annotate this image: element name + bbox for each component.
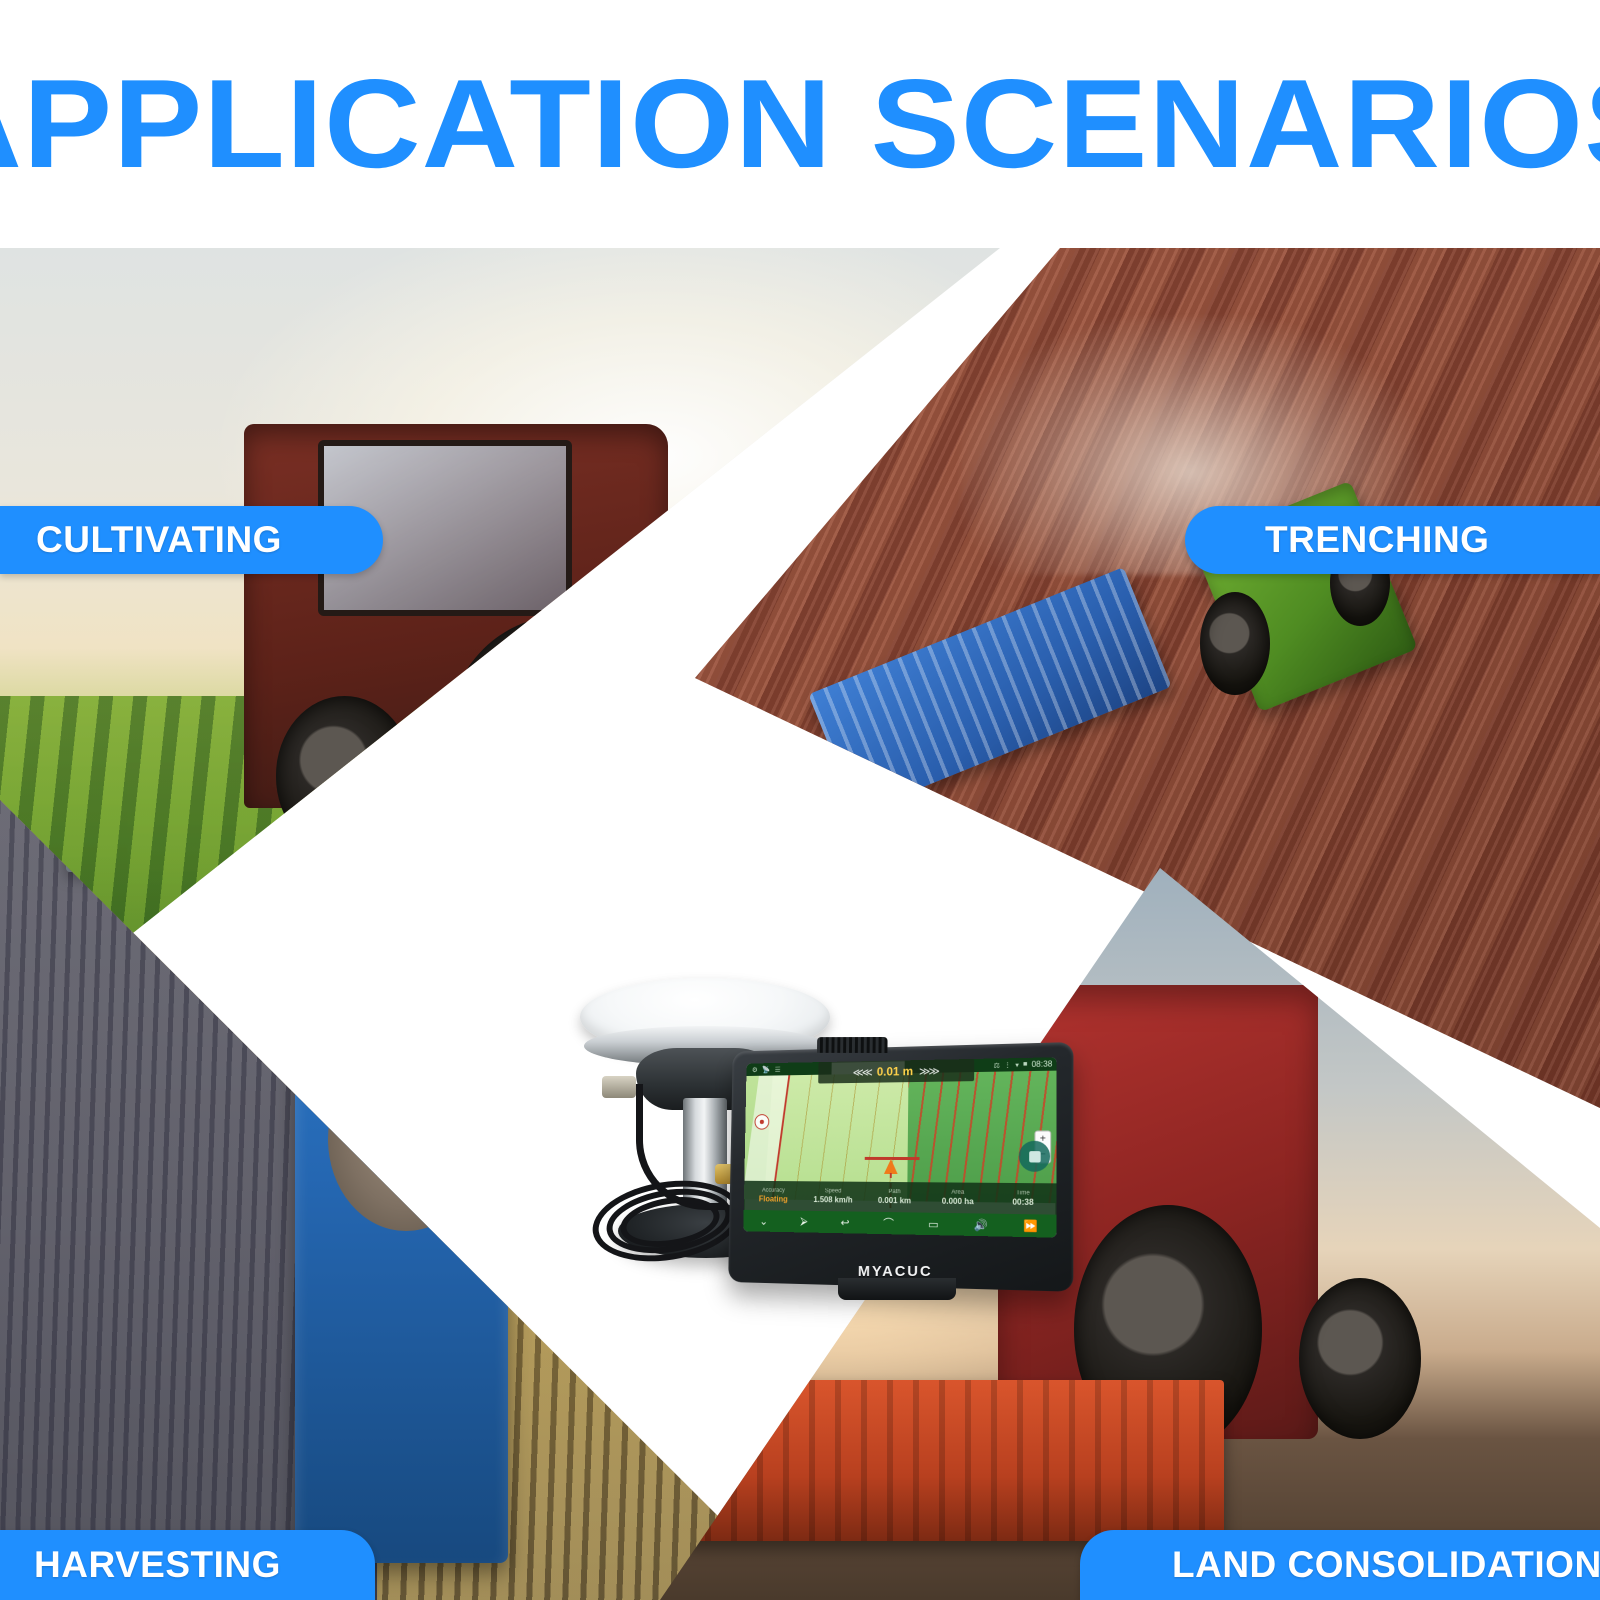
tractor-wheel-rear [445, 616, 678, 872]
page-header: APPLICATION SCENARIOS [0, 0, 1600, 248]
metric-speed: Speed 1.508 km/h [803, 1188, 864, 1205]
metric-time-value: 00:38 [990, 1197, 1056, 1207]
recent-icon[interactable]: ▭ [928, 1217, 939, 1230]
status-time: 08:38 [1032, 1059, 1053, 1069]
badge-trenching: TRENCHING [1185, 506, 1600, 574]
metric-path: Path 0.001 km [863, 1189, 926, 1206]
tractor-wheel-front [276, 696, 414, 856]
blue-cultivator [808, 567, 1172, 814]
badge-cultivating: CULTIVATING [0, 506, 383, 574]
badge-trenching-label: TRENCHING [1265, 519, 1489, 561]
layers-icon[interactable]: ☰ [775, 1065, 781, 1073]
metric-speed-value: 1.508 km/h [803, 1195, 864, 1205]
record-button[interactable] [1019, 1141, 1050, 1172]
antenna-connector [602, 1076, 636, 1098]
brand-logo: MYACUC [730, 1263, 1073, 1281]
volume-icon[interactable]: ⮚ [800, 1215, 808, 1228]
metric-speed-key: Speed [803, 1188, 864, 1195]
metric-time: Time 00:38 [990, 1190, 1056, 1207]
metric-area-key: Area [926, 1189, 990, 1197]
metric-path-value: 0.001 km [863, 1196, 925, 1206]
terminal-stand [838, 1278, 956, 1300]
wifi-icon: ▾ [1015, 1061, 1019, 1069]
collapse-icon[interactable]: ⌄ [759, 1214, 768, 1227]
terminal-screen[interactable]: + − ⚙ 📡 ☰ ⚖ ⋮ ▾ ■ 08:38 [743, 1057, 1056, 1237]
metric-accuracy-key: Accuracy [744, 1188, 803, 1195]
scenario-collage: CULTIVATING TRENCHING HARVESTING LAND CO… [0, 248, 1600, 1600]
metric-accuracy: Accuracy Floating [744, 1188, 803, 1204]
product-composite: + − ⚙ 📡 ☰ ⚖ ⋮ ▾ ■ 08:38 [470, 948, 1090, 1308]
badge-land-consolidation: LAND CONSOLIDATION [1080, 1530, 1600, 1600]
metric-accuracy-value: Floating [744, 1194, 803, 1204]
metric-time-key: Time [990, 1190, 1056, 1198]
green-tractor-wheel-rear [1200, 592, 1270, 695]
metric-area-value: 0.000 ha [926, 1196, 990, 1206]
offset-indicator: ≪≪ 0.01 m ≫≫ [818, 1059, 974, 1084]
chevron-left-icon: ≪≪ [853, 1065, 871, 1078]
terminal-vent [817, 1037, 888, 1053]
page-title: APPLICATION SCENARIOS [0, 61, 1600, 187]
gps-terminal: + − ⚙ 📡 ☰ ⚖ ⋮ ▾ ■ 08:38 [720, 1046, 1070, 1286]
vehicle-marker-icon [884, 1159, 898, 1174]
home-icon[interactable]: ⌒ [883, 1215, 894, 1231]
camera-icon[interactable]: ⏩ [1024, 1219, 1038, 1233]
badge-harvesting: HARVESTING [0, 1530, 375, 1600]
red-tractor-wheel-front [1299, 1278, 1421, 1439]
usb-icon: ⋮ [1004, 1061, 1011, 1069]
battery-icon: ■ [1023, 1061, 1027, 1068]
orange-harrow [679, 1380, 1224, 1541]
metric-path-key: Path [863, 1189, 925, 1197]
harvester-drum [328, 1047, 484, 1231]
badge-harvesting-label: HARVESTING [34, 1544, 281, 1586]
offset-value: 0.01 m [877, 1064, 914, 1079]
satellite-icon: 📡 [762, 1066, 770, 1074]
back-icon[interactable]: ↩ [841, 1216, 850, 1229]
chevron-right-icon: ≫≫ [919, 1064, 938, 1077]
badge-land-label: LAND CONSOLIDATION [1172, 1544, 1600, 1586]
settings-icon[interactable]: ⚙ [752, 1066, 758, 1074]
record-square-icon [1029, 1151, 1041, 1162]
speaker-icon[interactable]: 🔊 [974, 1218, 988, 1232]
badge-cultivating-label: CULTIVATING [36, 519, 282, 561]
signal-icon: ⚖ [993, 1061, 999, 1069]
metric-area: Area 0.000 ha [926, 1189, 990, 1206]
